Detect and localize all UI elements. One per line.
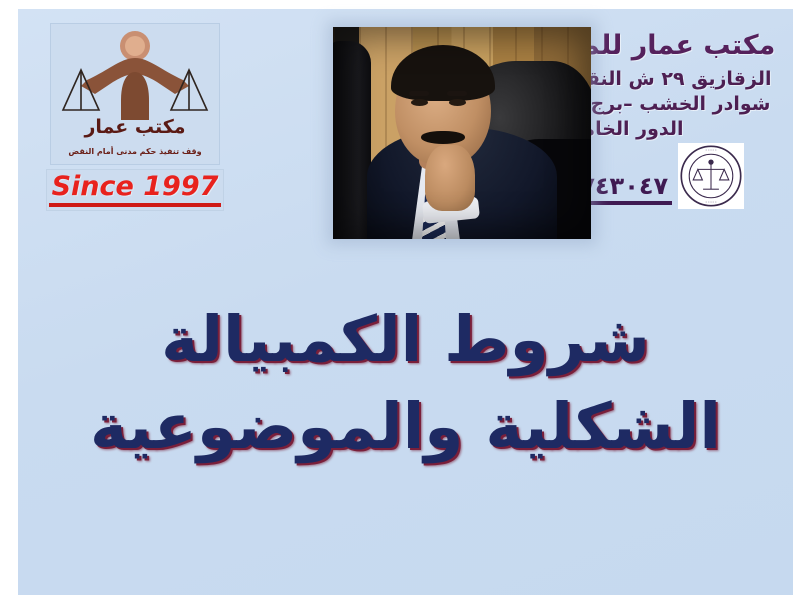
scales-of-justice-seal-icon: ◦◦◦◦◦ ◦◦◦◦◦ [678, 143, 744, 209]
poster-canvas: مكتب عمار للمحاماة الزقازيق ٢٩ ش النقراش… [18, 9, 793, 595]
page-title: شروط الكمبيالة الشكلية والموضوعية [18, 297, 793, 471]
since-label: Since 1997 [49, 173, 222, 206]
svg-text:◦◦◦◦◦: ◦◦◦◦◦ [705, 200, 717, 205]
since-badge: Since 1997 [46, 169, 224, 211]
headline-line-1: شروط الكمبيالة [18, 297, 793, 384]
svg-text:◦◦◦◦◦: ◦◦◦◦◦ [705, 148, 717, 153]
photo-content [333, 27, 591, 239]
poster-root: مكتب عمار للمحاماة الزقازيق ٢٩ ش النقراش… [0, 0, 800, 600]
headline-line-2: الشكلية والموضوعية [18, 384, 793, 471]
logo-brand-text: مكتب عمار [51, 116, 219, 138]
logo-tagline: وقف تنفيذ حكم مدنى أمام النقض [51, 147, 219, 156]
photo-vignette [333, 27, 591, 239]
lawyer-photo [333, 27, 591, 239]
office-logo-card: مكتب عمار وقف تنفيذ حكم مدنى أمام النقض [50, 23, 220, 165]
